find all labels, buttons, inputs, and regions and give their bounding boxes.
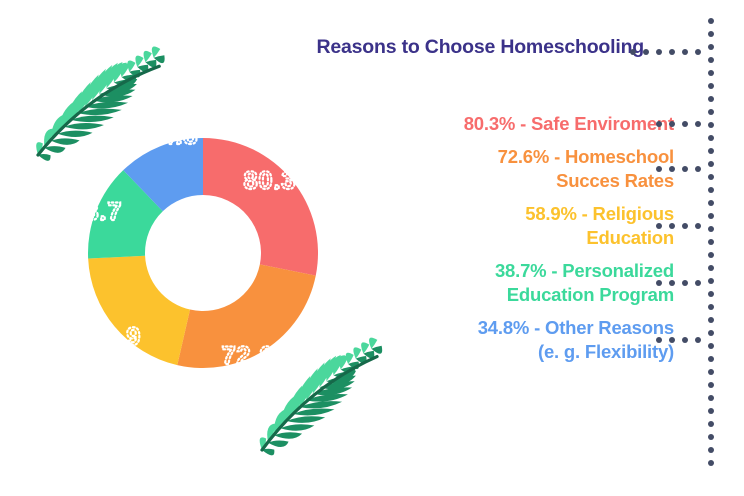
legend-connector-dot-2 bbox=[669, 166, 675, 172]
title-connector-dot bbox=[630, 49, 636, 55]
rail-dot bbox=[708, 434, 714, 440]
rail-dot bbox=[708, 421, 714, 427]
rail-dot bbox=[708, 109, 714, 115]
rail-dot bbox=[708, 369, 714, 375]
legend-connector-dot-4 bbox=[682, 280, 688, 286]
rail-dot bbox=[708, 44, 714, 50]
legend-item-1[interactable]: 80.3% - Safe Enviroment bbox=[330, 112, 674, 136]
rail-dot bbox=[708, 57, 714, 63]
legend-connector-dot-5 bbox=[695, 337, 701, 343]
legend-item-4[interactable]: 38.7% - PersonalizedEducation Program bbox=[330, 259, 674, 307]
legend-item-line1: 80.3% - Safe Enviroment bbox=[464, 113, 674, 134]
rail-dot bbox=[708, 200, 714, 206]
title-connector-dot bbox=[682, 49, 688, 55]
palm-leaf-top-left bbox=[19, 38, 179, 164]
rail-dot bbox=[708, 213, 714, 219]
rail-dot bbox=[708, 122, 714, 128]
rail-dot bbox=[708, 356, 714, 362]
legend-connector-dot-4 bbox=[669, 280, 675, 286]
rail-dot bbox=[708, 83, 714, 89]
legend-item-line2: Education Program bbox=[330, 283, 674, 307]
rail-dot bbox=[708, 161, 714, 167]
legend-connector-dot-4 bbox=[695, 280, 701, 286]
legend-connector-dot-3 bbox=[695, 223, 701, 229]
legend-connector-dot-3 bbox=[656, 223, 662, 229]
dotted-rail bbox=[708, 18, 715, 471]
rail-dot bbox=[708, 187, 714, 193]
rail-dot bbox=[708, 330, 714, 336]
rail-dot bbox=[708, 265, 714, 271]
rail-dot bbox=[708, 278, 714, 284]
legend-connector-dot-5 bbox=[656, 337, 662, 343]
rail-dot bbox=[708, 395, 714, 401]
legend-connector-dot-2 bbox=[695, 166, 701, 172]
rail-dot bbox=[708, 148, 714, 154]
title-connector-dot bbox=[643, 49, 649, 55]
legend: 80.3% - Safe Enviroment72.6% - Homeschoo… bbox=[330, 112, 674, 373]
legend-item-2[interactable]: 72.6% - HomeschoolSucces Rates bbox=[330, 145, 674, 193]
rail-dot bbox=[708, 382, 714, 388]
rail-dot bbox=[708, 239, 714, 245]
legend-item-line1: 72.6% - Homeschool bbox=[498, 146, 674, 167]
rail-dot bbox=[708, 304, 714, 310]
legend-item-line2: Education bbox=[330, 226, 674, 250]
title-connector-dot bbox=[656, 49, 662, 55]
legend-connector-dot-1 bbox=[656, 121, 662, 127]
legend-connector-dot-5 bbox=[682, 337, 688, 343]
rail-dot bbox=[708, 343, 714, 349]
legend-connector-dot-2 bbox=[656, 166, 662, 172]
rail-dot bbox=[708, 408, 714, 414]
rail-dot bbox=[708, 460, 714, 466]
rail-dot bbox=[708, 18, 714, 24]
legend-connector-dot-3 bbox=[682, 223, 688, 229]
rail-dot bbox=[708, 174, 714, 180]
legend-item-3[interactable]: 58.9% - ReligiousEducation bbox=[330, 202, 674, 250]
legend-connector-dot-3 bbox=[669, 223, 675, 229]
legend-item-line2: (e. g. Flexibility) bbox=[330, 340, 674, 364]
palm-leaflet bbox=[148, 44, 162, 58]
rail-dot bbox=[708, 31, 714, 37]
legend-connector-dot-1 bbox=[695, 121, 701, 127]
legend-connector-dot-2 bbox=[682, 166, 688, 172]
rail-dot bbox=[708, 447, 714, 453]
title-connector-dot bbox=[669, 49, 675, 55]
rail-dot bbox=[708, 70, 714, 76]
legend-item-line1: 38.7% - Personalized bbox=[495, 260, 674, 281]
page-title: Reasons to Choose Homeschooling bbox=[256, 36, 644, 59]
rail-dot bbox=[708, 96, 714, 102]
legend-connector-dot-1 bbox=[682, 121, 688, 127]
legend-item-line2: Succes Rates bbox=[330, 169, 674, 193]
legend-connector-dot-1 bbox=[669, 121, 675, 127]
rail-dot bbox=[708, 135, 714, 141]
legend-item-line1: 34.8% - Other Reasons bbox=[478, 317, 674, 338]
legend-item-5[interactable]: 34.8% - Other Reasons(e. g. Flexibility) bbox=[330, 316, 674, 364]
title-connector-dot bbox=[695, 49, 701, 55]
legend-item-line1: 58.9% - Religious bbox=[525, 203, 674, 224]
rail-dot bbox=[708, 317, 714, 323]
rail-dot bbox=[708, 291, 714, 297]
rail-dot bbox=[708, 226, 714, 232]
infographic-canvas: 80.372.658.938.734.8 Reasons to Choose H… bbox=[0, 0, 744, 496]
legend-connector-dot-4 bbox=[656, 280, 662, 286]
legend-connector-dot-5 bbox=[669, 337, 675, 343]
rail-dot bbox=[708, 252, 714, 258]
